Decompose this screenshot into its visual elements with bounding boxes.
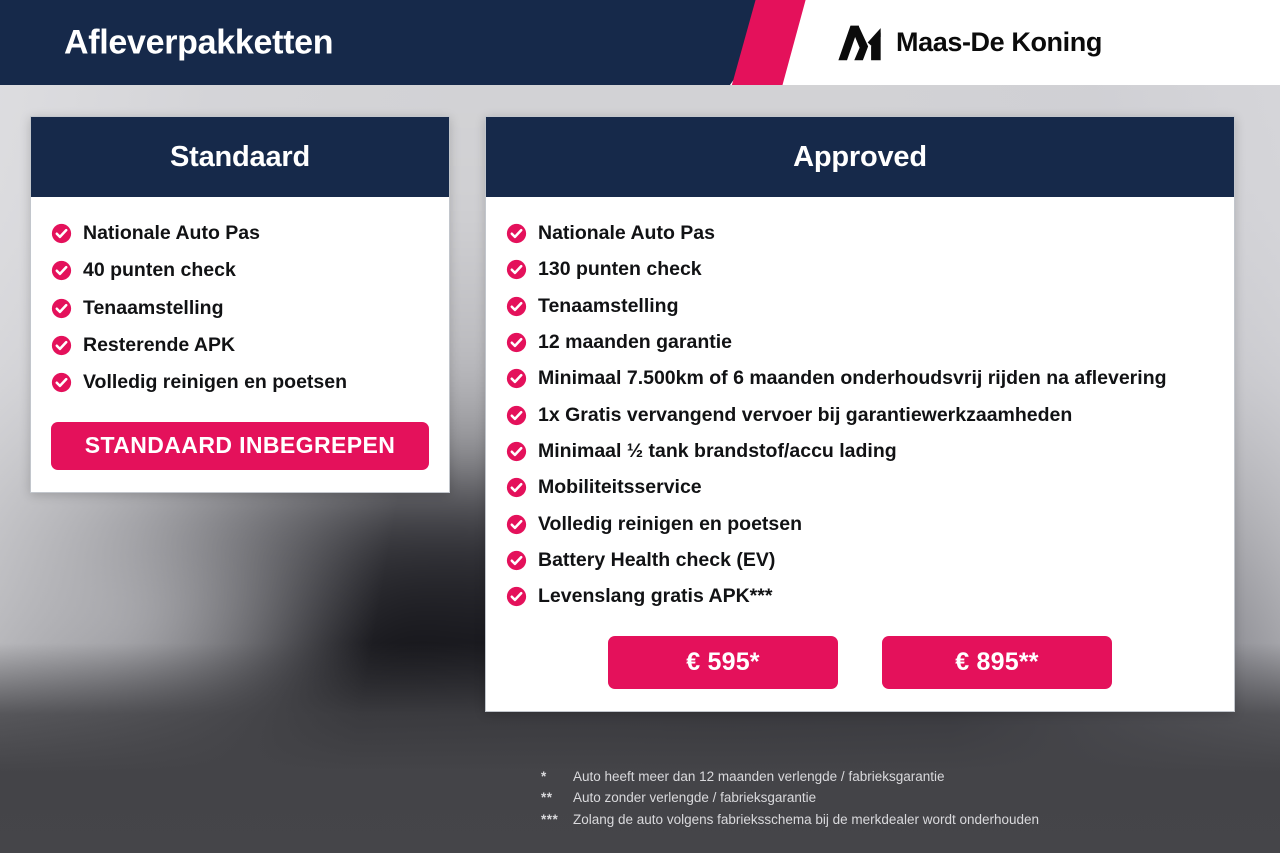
list-item: Tenaamstelling: [51, 296, 429, 321]
price-button-595[interactable]: € 595*: [608, 636, 838, 689]
list-item: Nationale Auto Pas: [506, 221, 1214, 246]
card-title: Approved: [793, 141, 927, 174]
list-item: Minimaal 7.500km of 6 maanden onderhouds…: [506, 366, 1214, 391]
footnote-marker: *: [541, 766, 573, 787]
feature-label: Tenaamstelling: [83, 296, 224, 321]
list-item: Volledig reinigen en poetsen: [51, 370, 429, 395]
card-body-approved: Nationale Auto Pas 130 punten check Tena…: [486, 197, 1234, 711]
check-circle-icon: [506, 586, 527, 607]
feature-label: Minimaal ½ tank brandstof/accu lading: [538, 439, 897, 464]
check-circle-icon: [51, 298, 72, 319]
feature-label: Volledig reinigen en poetsen: [83, 370, 347, 395]
feature-label: Resterende APK: [83, 333, 235, 358]
brand-name: Maas-De Koning: [896, 27, 1102, 58]
check-circle-icon: [506, 405, 527, 426]
page-title: Afleverpakketten: [64, 23, 333, 62]
list-item: Mobiliteitsservice: [506, 475, 1214, 500]
footnote-triple-asterisk: *** Zolang de auto volgens fabrieksschem…: [541, 809, 1039, 830]
list-item: Tenaamstelling: [506, 294, 1214, 319]
feature-label: 12 maanden garantie: [538, 330, 732, 355]
footnote-text: Auto zonder verlengde / fabrieksgarantie: [573, 787, 816, 808]
list-item: 40 punten check: [51, 258, 429, 283]
feature-label: Nationale Auto Pas: [538, 221, 715, 246]
footnote-marker: **: [541, 787, 573, 808]
footnote-text: Zolang de auto volgens fabrieksschema bi…: [573, 809, 1039, 830]
list-item: Volledig reinigen en poetsen: [506, 512, 1214, 537]
check-circle-icon: [51, 372, 72, 393]
check-circle-icon: [506, 259, 527, 280]
list-item: Minimaal ½ tank brandstof/accu lading: [506, 439, 1214, 464]
feature-list-approved: Nationale Auto Pas 130 punten check Tena…: [506, 221, 1214, 610]
list-item: Levenslang gratis APK***: [506, 584, 1214, 609]
feature-label: Levenslang gratis APK***: [538, 584, 772, 609]
list-item: 130 punten check: [506, 257, 1214, 282]
feature-label: Volledig reinigen en poetsen: [538, 512, 802, 537]
package-card-approved: Approved Nationale Auto Pas 130 punten c: [485, 116, 1235, 712]
check-circle-icon: [506, 550, 527, 571]
brand-lockup: Maas-De Koning: [838, 23, 1102, 63]
list-item: 12 maanden garantie: [506, 330, 1214, 355]
check-circle-icon: [506, 368, 527, 389]
footnotes: * Auto heeft meer dan 12 maanden verleng…: [541, 766, 1039, 830]
footnote-double-asterisk: ** Auto zonder verlengde / fabrieksgaran…: [541, 787, 1039, 808]
check-circle-icon: [506, 223, 527, 244]
price-button-895[interactable]: € 895**: [882, 636, 1112, 689]
feature-list-standaard: Nationale Auto Pas 40 punten check Tenaa…: [51, 221, 429, 396]
footnote-marker: ***: [541, 809, 573, 830]
check-circle-icon: [51, 223, 72, 244]
check-circle-icon: [51, 260, 72, 281]
feature-label: 130 punten check: [538, 257, 702, 282]
feature-label: Mobiliteitsservice: [538, 475, 702, 500]
feature-label: 40 punten check: [83, 258, 236, 283]
feature-label: Nationale Auto Pas: [83, 221, 260, 246]
card-title: Standaard: [170, 141, 310, 174]
check-circle-icon: [506, 477, 527, 498]
card-body-standaard: Nationale Auto Pas 40 punten check Tenaa…: [31, 197, 449, 492]
feature-label: Tenaamstelling: [538, 294, 679, 319]
list-item: Nationale Auto Pas: [51, 221, 429, 246]
page-header: Afleverpakketten Maas-De Koning: [0, 0, 1280, 85]
maas-de-koning-logo-icon: [838, 23, 882, 63]
card-header-standaard: Standaard: [31, 117, 449, 197]
footnote-single-asterisk: * Auto heeft meer dan 12 maanden verleng…: [541, 766, 1039, 787]
package-card-standaard: Standaard Nationale Auto Pas 40 punten c: [30, 116, 450, 493]
check-circle-icon: [506, 441, 527, 462]
check-circle-icon: [506, 296, 527, 317]
feature-label: Minimaal 7.500km of 6 maanden onderhouds…: [538, 366, 1167, 391]
check-circle-icon: [506, 332, 527, 353]
feature-label: Battery Health check (EV): [538, 548, 775, 573]
afleverpakketten-page: Afleverpakketten Maas-De Koning Standaar…: [0, 0, 1280, 853]
standaard-inbegrepen-button[interactable]: STANDAARD INBEGREPEN: [51, 422, 429, 470]
list-item: 1x Gratis vervangend vervoer bij garanti…: [506, 403, 1214, 428]
card-header-approved: Approved: [486, 117, 1234, 197]
check-circle-icon: [51, 335, 72, 356]
list-item: Resterende APK: [51, 333, 429, 358]
check-circle-icon: [506, 514, 527, 535]
feature-label: 1x Gratis vervangend vervoer bij garanti…: [538, 403, 1072, 428]
footnote-text: Auto heeft meer dan 12 maanden verlengde…: [573, 766, 945, 787]
list-item: Battery Health check (EV): [506, 548, 1214, 573]
price-button-row: € 595* € 895**: [506, 636, 1214, 689]
